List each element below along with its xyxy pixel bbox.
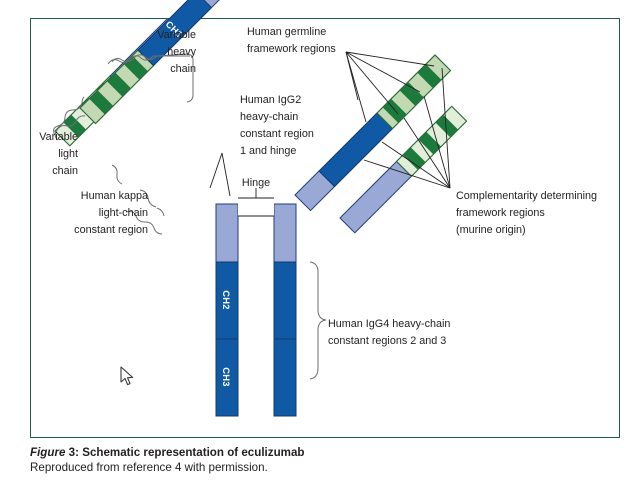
cursor-arrow-icon [121, 367, 133, 385]
variable-light-chain-label: Variable light chain [39, 131, 78, 177]
kappa-line-2: light-chain [99, 207, 148, 219]
caption-figure-word: Figure [30, 446, 65, 459]
right-ch1-constant-region [319, 113, 393, 187]
cdr-line-3: (murine origin) [456, 224, 526, 236]
antibody-schematic-diagram: CL CH1 [0, 0, 633, 485]
ch2-label: CH2 [221, 290, 231, 310]
cdr-line-2: framework regions [456, 207, 545, 219]
human-igg2-leader-lines [210, 153, 230, 196]
vlc-line-1: Variable [39, 131, 78, 143]
germline-line-1: Human germline [247, 26, 326, 38]
right-light-chain [340, 106, 467, 233]
caption-credit: Reproduced from reference 4 with permiss… [30, 461, 600, 476]
cdr-line-1: Complementarity determining [456, 190, 597, 202]
ch3-label: CH3 [221, 367, 231, 387]
right-stem-upper-light-blue [274, 204, 296, 262]
figure-screenshot: CL CH1 [0, 0, 633, 485]
left-arm: CL CH1 [55, 0, 236, 146]
vlc-line-3: chain [52, 165, 78, 177]
kappa-line-3: constant region [74, 224, 148, 236]
hinge-gap [238, 198, 274, 216]
human-igg2-label: Human IgG2 heavy-chain constant region 1… [240, 94, 314, 157]
igg4-line-1: Human IgG4 heavy-chain [328, 318, 450, 330]
kappa-line-1: Human kappa [81, 190, 148, 202]
germline-line-2: framework regions [247, 43, 336, 55]
human-germline-label: Human germline framework regions [247, 26, 336, 55]
variable-light-chain-brace-tail [112, 165, 122, 184]
vhc-line-1: Variable [157, 29, 196, 41]
human-kappa-label: Human kappa light-chain constant region [74, 190, 148, 236]
igg2-line-3: constant region [240, 128, 314, 140]
caption-title-text: Schematic representation of eculizumab [82, 446, 304, 459]
igg2-line-4: 1 and hinge [240, 145, 296, 157]
igg2-line-1: Human IgG2 [240, 94, 301, 106]
left-heavy-chain: CH1 [80, 0, 236, 124]
vhc-line-3: chain [170, 63, 196, 75]
right-arm [295, 55, 467, 233]
vlc-line-2: light [58, 148, 78, 160]
human-igg4-label: Human IgG4 heavy-chain constant regions … [328, 318, 450, 347]
caption-figure-number: 3: [69, 446, 79, 459]
cdr-label: Complementarity determining framework re… [456, 190, 597, 236]
left-stem-upper-light-blue [216, 204, 238, 262]
right-ch3-region [274, 339, 296, 416]
hinge-label: Hinge [242, 177, 270, 189]
mouse-cursor [120, 366, 136, 388]
human-igg4-brace [310, 262, 326, 379]
figure-caption: Figure 3: Schematic representation of ec… [30, 446, 600, 475]
right-ch2-region [274, 262, 296, 339]
fc-stem: CH2 CH3 [216, 198, 296, 416]
igg4-line-2: constant regions 2 and 3 [328, 335, 446, 347]
caption-title-line: Figure 3: Schematic representation of ec… [30, 446, 600, 461]
vhc-line-2: heavy [167, 46, 196, 58]
igg2-line-2: heavy-chain [240, 111, 298, 123]
